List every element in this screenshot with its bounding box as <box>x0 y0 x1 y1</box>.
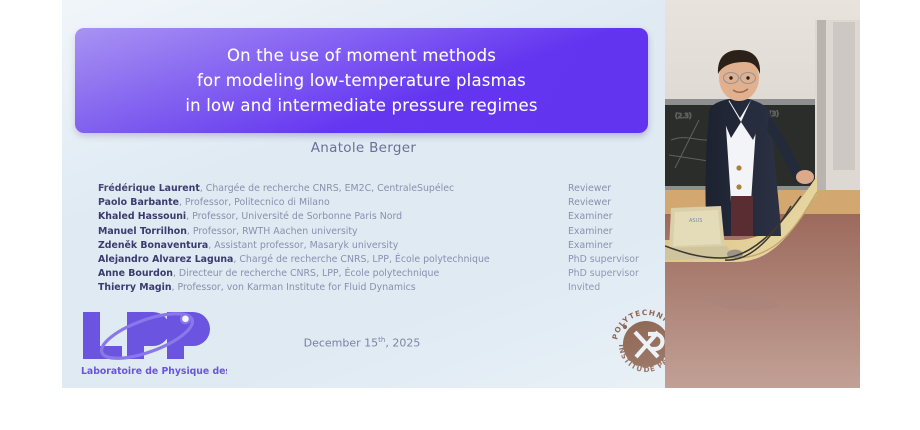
jury-row: Manuel Torrilhon, Professor, RWTH Aachen… <box>98 225 638 239</box>
jury-affiliation: , Directeur de recherche CNRS, LPP, Écol… <box>173 268 439 279</box>
jury-person: Anne Bourdon, Directeur de recherche CNR… <box>98 267 568 281</box>
presentation-slide: On the use of moment methods for modelin… <box>62 0 665 388</box>
jury-name: Thierry Magin <box>98 282 172 293</box>
presenter-eye-right <box>746 76 749 79</box>
jury-person: Paolo Barbante, Professor, Politecnico d… <box>98 196 568 210</box>
jury-person: Frédérique Laurent, Chargée de recherche… <box>98 182 568 196</box>
jury-person: Manuel Torrilhon, Professor, RWTH Aachen… <box>98 225 568 239</box>
jury-person: Thierry Magin, Professor, von Karman Ins… <box>98 281 568 295</box>
presenter-eye-left <box>729 76 732 79</box>
lpp-logo: Laboratoire de Physique des Plasmas <box>75 306 227 384</box>
jury-name: Zdeněk Bonaventura <box>98 240 208 251</box>
slide-title-banner: On the use of moment methods for modelin… <box>75 28 648 133</box>
polytechnique-seal: POLYTECHNIQUE INSTITUT DE PARIS <box>607 305 665 383</box>
jury-role: Reviewer <box>568 182 611 196</box>
jury-name: Paolo Barbante <box>98 197 179 208</box>
presenter-hand <box>796 170 814 184</box>
jury-row: Zdeněk Bonaventura, Assistant professor,… <box>98 239 638 253</box>
laptop-logo: ASUS <box>689 218 702 224</box>
svg-text:(2.3): (2.3) <box>675 112 692 120</box>
window-panel <box>833 22 855 170</box>
jury-row: Alejandro Alvarez Laguna, Chargé de rech… <box>98 253 638 267</box>
title-line-1: On the use of moment methods <box>227 43 496 68</box>
presenter-trousers <box>731 196 753 236</box>
jury-row: Paolo Barbante, Professor, Politecnico d… <box>98 196 638 210</box>
jury-role: Examiner <box>568 239 613 253</box>
jury-person: Alejandro Alvarez Laguna, Chargé de rech… <box>98 253 568 267</box>
jury-role: PhD supervisor <box>568 253 639 267</box>
jury-affiliation: , Chargée de recherche CNRS, EM2C, Centr… <box>200 183 454 194</box>
jury-person: Khaled Hassouni, Professor, Université d… <box>98 210 568 224</box>
jury-name: Anne Bourdon <box>98 268 173 279</box>
jury-role: Reviewer <box>568 196 611 210</box>
jury-name: Manuel Torrilhon <box>98 226 187 237</box>
lpp-tagline: Laboratoire de Physique des Plasmas <box>81 366 227 377</box>
jury-row: Thierry Magin, Professor, von Karman Ins… <box>98 281 638 295</box>
jury-affiliation: , Assistant professor, Masaryk universit… <box>208 240 398 251</box>
jury-role: Examiner <box>568 210 613 224</box>
jury-affiliation: , Professor, RWTH Aachen university <box>187 226 358 237</box>
laptop-screen <box>673 210 721 246</box>
jury-row: Khaled Hassouni, Professor, Université d… <box>98 210 638 224</box>
jury-affiliation: , Professor, Université de Sorbonne Pari… <box>186 211 402 222</box>
jury-name: Frédérique Laurent <box>98 183 200 194</box>
date-month-day: December 15 <box>304 337 379 350</box>
jury-role: Examiner <box>568 225 613 239</box>
date-year: , 2025 <box>385 337 420 350</box>
jury-affiliation: , Professor, Politecnico di Milano <box>179 197 330 208</box>
defense-date: December 15th, 2025 <box>212 336 512 350</box>
jury-committee-list: Frédérique Laurent, Chargée de recherche… <box>98 182 638 296</box>
jury-row: Frédérique Laurent, Chargée de recherche… <box>98 182 638 196</box>
jury-name: Khaled Hassouni <box>98 211 186 222</box>
screen-root: On the use of moment methods for modelin… <box>0 0 920 430</box>
suit-button <box>736 184 741 189</box>
title-line-2: for modeling low-temperature plasmas <box>197 68 526 93</box>
jury-name: Alejandro Alvarez Laguna <box>98 254 233 265</box>
jury-role: PhD supervisor <box>568 267 639 281</box>
jury-person: Zdeněk Bonaventura, Assistant professor,… <box>98 239 568 253</box>
pillar-edge <box>817 20 826 192</box>
jury-affiliation: , Chargé de recherche CNRS, LPP, École p… <box>233 254 489 265</box>
jury-row: Anne Bourdon, Directeur de recherche CNR… <box>98 267 638 281</box>
jury-affiliation: , Professor, von Karman Institute for Fl… <box>172 282 416 293</box>
title-line-3: in low and intermediate pressure regimes <box>185 93 537 118</box>
presenter-video-feed[interactable]: (2.3) (3) <box>665 0 860 388</box>
jury-role: Invited <box>568 281 600 295</box>
candidate-name: Anatole Berger <box>62 140 665 156</box>
suit-button <box>736 165 741 170</box>
